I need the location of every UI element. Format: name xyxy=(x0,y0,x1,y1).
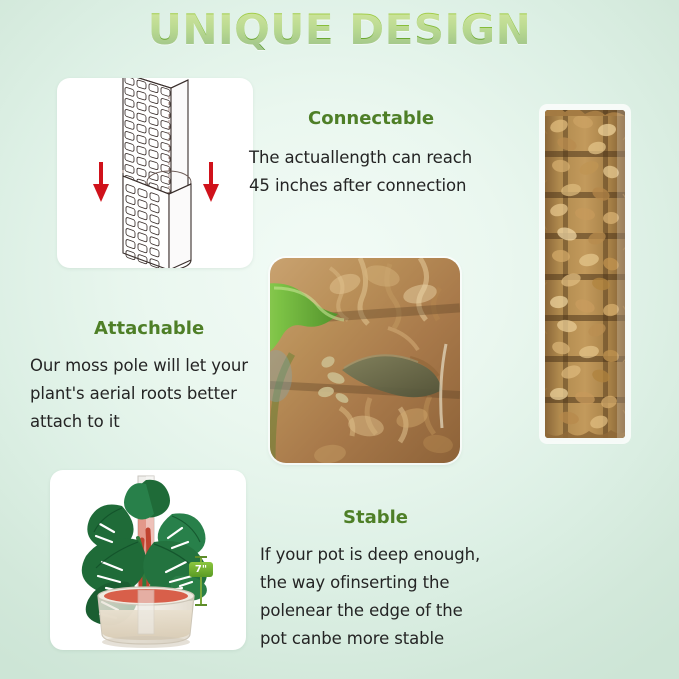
aerial-roots-photo-art xyxy=(270,258,460,463)
body-line: plant's aerial roots better xyxy=(30,380,262,408)
dimension-badge-label: 7" xyxy=(189,562,213,577)
feature-heading-attachable: Attachable xyxy=(94,318,204,340)
down-arrow-left-icon xyxy=(93,162,109,202)
moss-pole-photo xyxy=(545,110,625,438)
body-line: Our moss pole will let your xyxy=(30,352,262,380)
moss-pole-photo-art xyxy=(545,110,625,438)
body-line: The actuallength can reach xyxy=(249,144,499,172)
dimension-cap-top xyxy=(195,556,207,558)
feature-heading-connectable: Connectable xyxy=(308,108,434,130)
body-line: the way ofinserting the xyxy=(260,569,512,597)
feature-heading-stable: Stable xyxy=(343,507,408,529)
aerial-roots-photo xyxy=(270,258,460,463)
stable-illustration-card: 7" xyxy=(50,470,246,650)
down-arrow-right-icon xyxy=(203,162,219,202)
infographic-root: UNIQUE DESIGN xyxy=(0,0,679,679)
page-title: UNIQUE DESIGN xyxy=(148,4,532,56)
body-line: pot canbe more stable xyxy=(260,625,512,653)
tube-connection-diagram-icon xyxy=(57,78,253,268)
body-line: If your pot is deep enough, xyxy=(260,541,512,569)
feature-body-stable: If your pot is deep enough, the way ofin… xyxy=(260,541,512,653)
feature-body-connectable: The actuallength can reach 45 inches aft… xyxy=(249,144,499,200)
feature-body-attachable: Our moss pole will let your plant's aeri… xyxy=(30,352,262,436)
title-container: UNIQUE DESIGN xyxy=(0,4,679,56)
dimension-indicator: 7" xyxy=(178,556,228,608)
body-line: attach to it xyxy=(30,408,262,436)
connectable-illustration-card xyxy=(57,78,253,268)
body-line: polenear the edge of the xyxy=(260,597,512,625)
dimension-cap-bottom xyxy=(195,604,207,606)
body-line: 45 inches after connection xyxy=(249,172,499,200)
